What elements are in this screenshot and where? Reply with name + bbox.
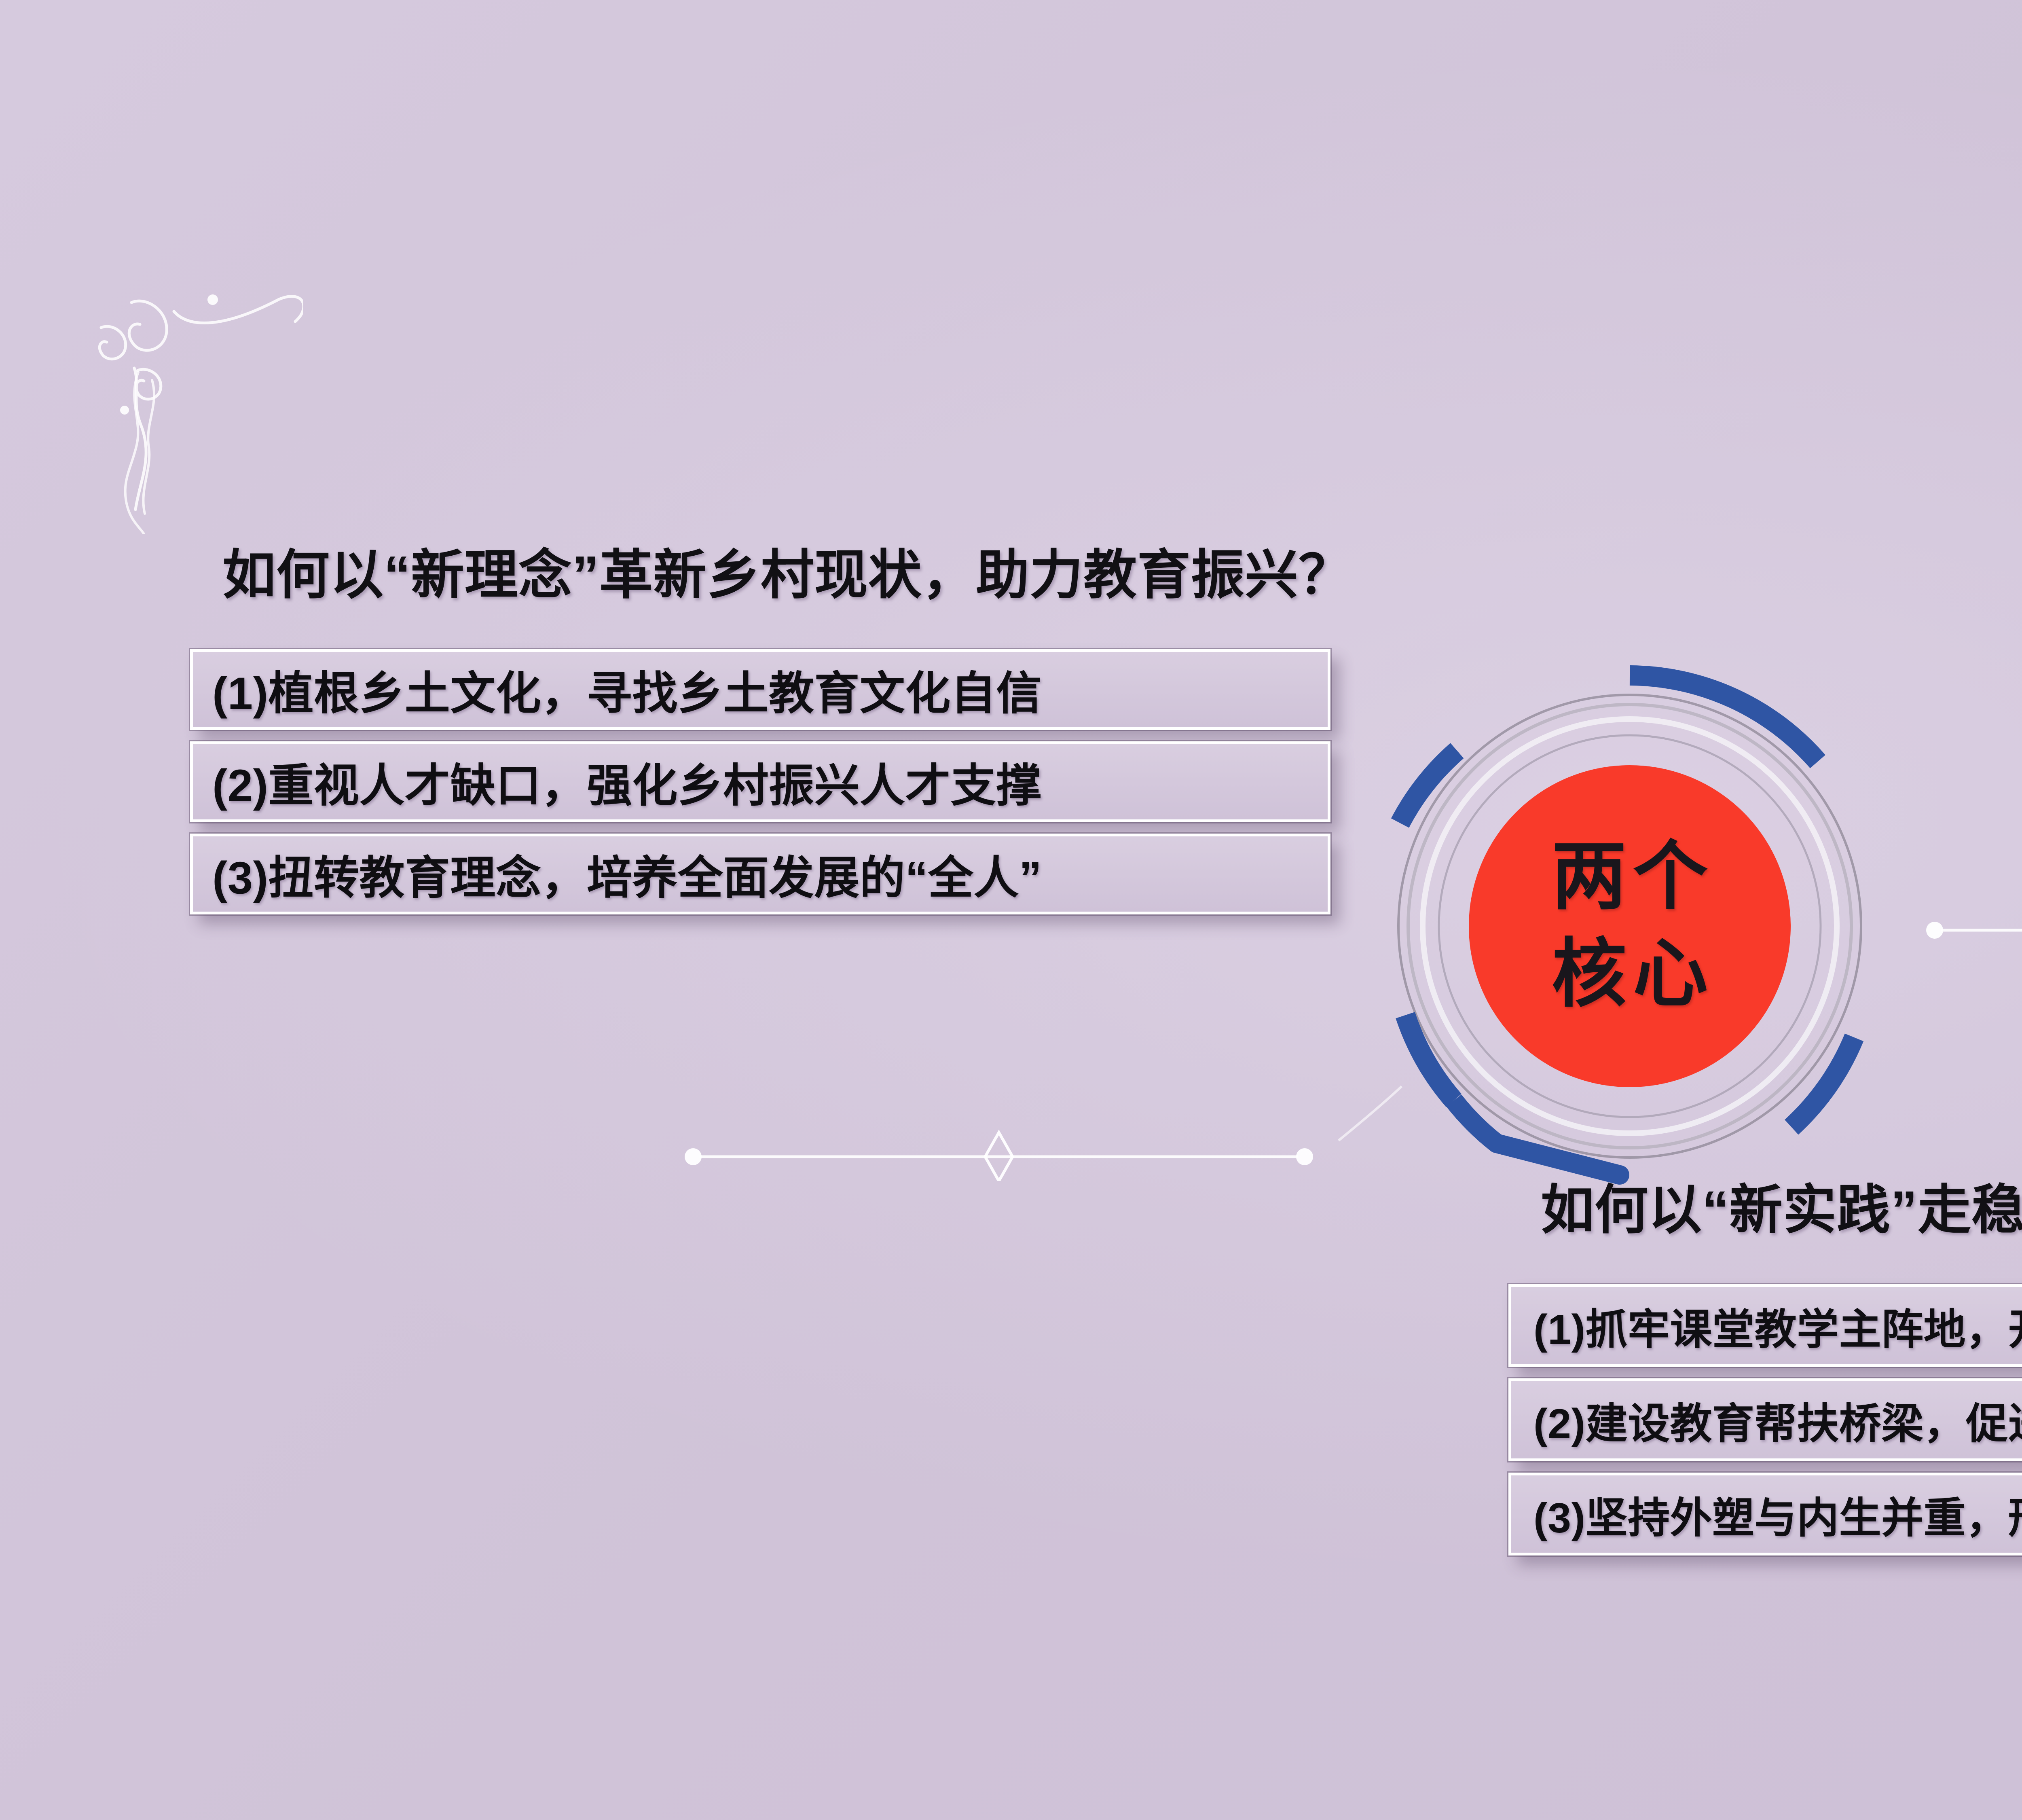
list-item-label: (3)扭转教育理念，培养全面发展的“全人” <box>212 841 1042 907</box>
dotted-diamond-connector-right <box>1901 882 2022 979</box>
center-core-badge[interactable]: 两个 核心 <box>1353 649 1907 1203</box>
list-item[interactable]: (1)植根乡土文化，寻找乡土教育文化自信 <box>190 649 1330 730</box>
page-title-section-1: 如何以“新理念”革新乡村现状，助力教育振兴？ <box>222 532 1352 609</box>
list-item-label: (2)重视人才缺口，强化乡村振兴人才支撑 <box>212 749 1042 815</box>
list-item[interactable]: (2)重视人才缺口，强化乡村振兴人才支撑 <box>190 741 1330 822</box>
slide-canvas: 如何以“新理念”革新乡村现状，助力教育振兴？ (1)植根乡土文化，寻找乡土教育文… <box>0 0 2022 1820</box>
list-item[interactable]: (2)建设教育帮扶桥梁，促进义务教育优质均衡 <box>1508 1378 2022 1461</box>
item-list-section-1: (1)植根乡土文化，寻找乡土教育文化自信 (2)重视人才缺口，强化乡村振兴人才支… <box>190 649 1330 914</box>
page-title-section-2: 如何以“新实践”走稳基础教育，担当复兴使命？ <box>1541 1167 2022 1244</box>
list-item-label: (1)抓牢课堂教学主阵地，开展乡村特色主题教育 <box>1533 1295 2022 1356</box>
list-item-label: (1)植根乡土文化，寻找乡土教育文化自信 <box>212 657 1042 722</box>
list-item-label: (3)坚持外塑与内生并重，形成教育良性发展生态 <box>1533 1484 2022 1545</box>
item-list-section-2: (1)抓牢课堂教学主阵地，开展乡村特色主题教育 (2)建设教育帮扶桥梁，促进义务… <box>1508 1284 2022 1555</box>
floral-swirl-ornament-top-left <box>53 251 303 534</box>
core-badge-rings-icon <box>1353 649 1907 1203</box>
list-item[interactable]: (1)抓牢课堂教学主阵地，开展乡村特色主题教育 <box>1508 1284 2022 1367</box>
dotted-diamond-connector-left <box>667 1084 1403 1181</box>
list-item-label: (2)建设教育帮扶桥梁，促进义务教育优质均衡 <box>1533 1389 2022 1450</box>
list-item[interactable]: (3)扭转教育理念，培养全面发展的“全人” <box>190 834 1330 914</box>
list-item[interactable]: (3)坚持外塑与内生并重，形成教育良性发展生态 <box>1508 1473 2022 1555</box>
